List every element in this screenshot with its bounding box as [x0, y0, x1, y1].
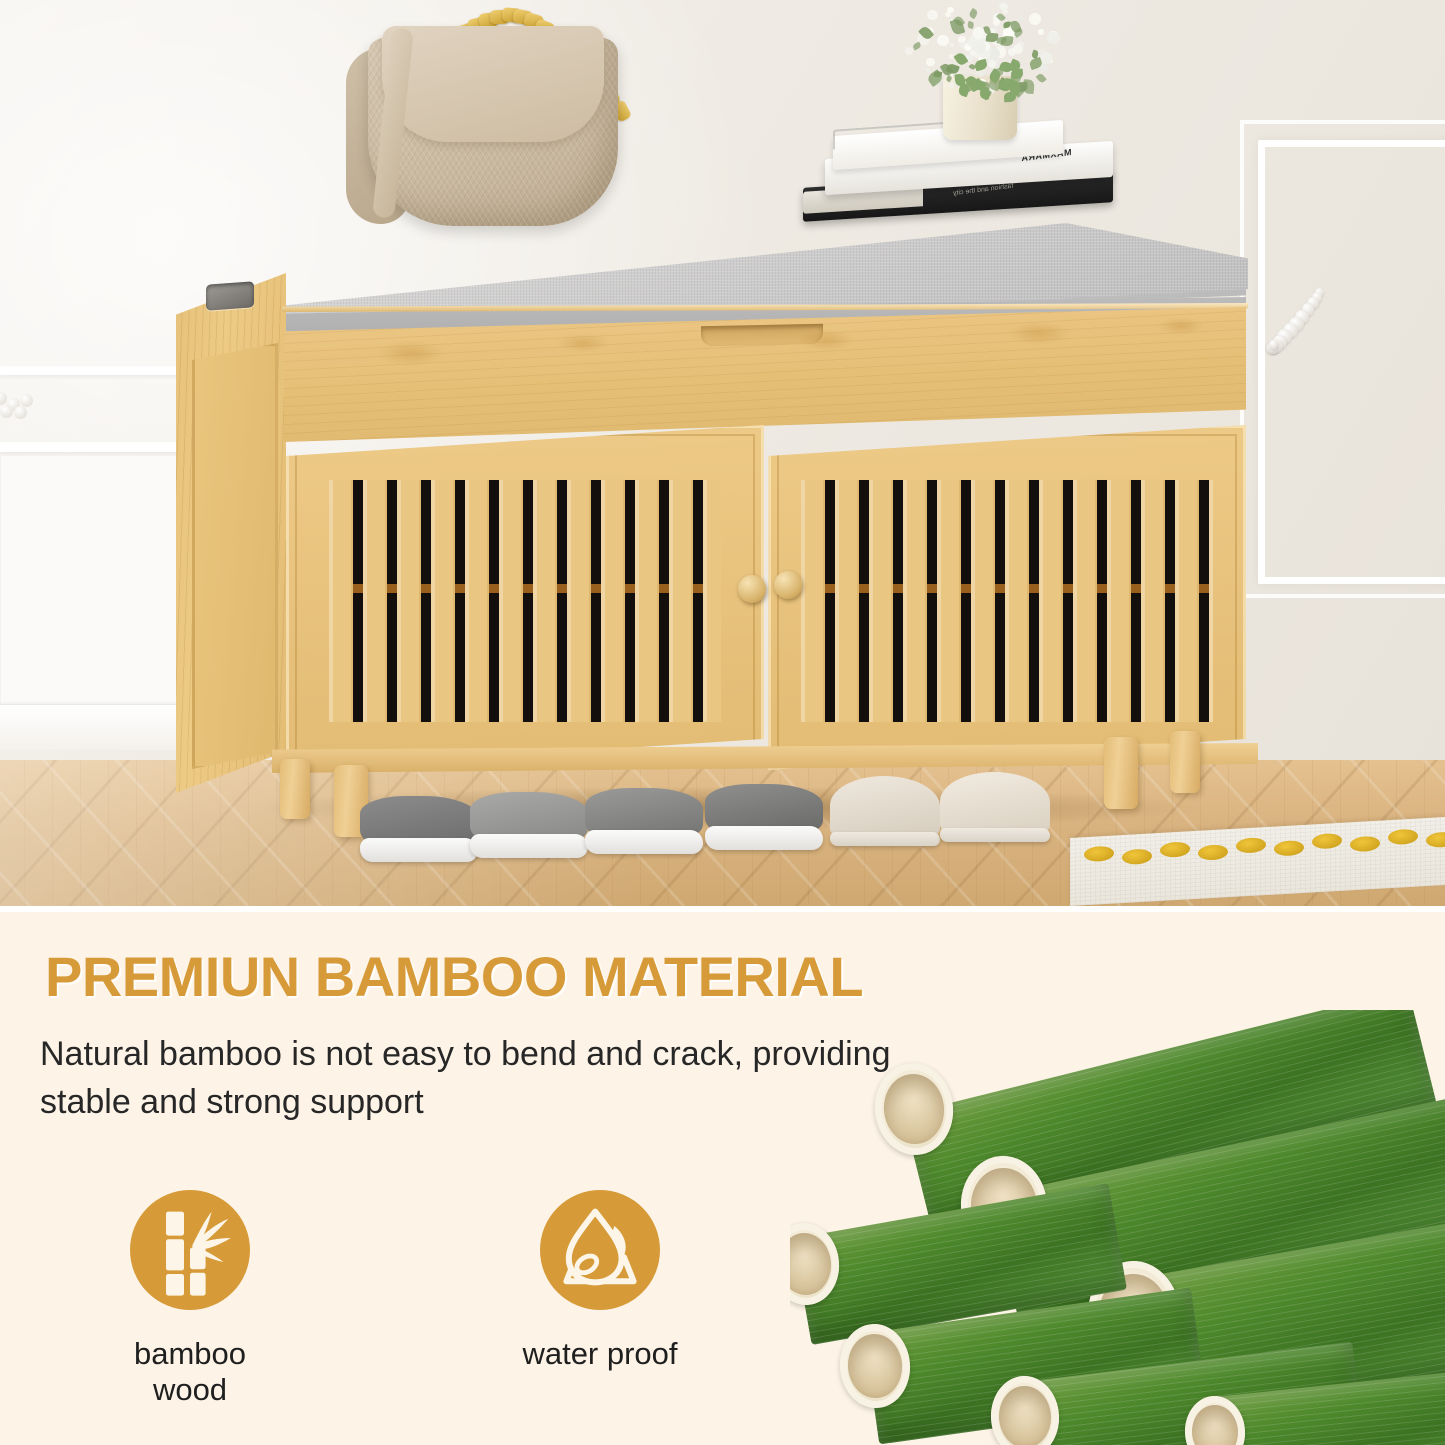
- door-knob-right[interactable]: [774, 571, 802, 599]
- bench-side-inset: [192, 343, 278, 769]
- wall-scroll-ornament: [1262, 268, 1328, 364]
- shoe-item: [360, 774, 478, 862]
- handbag-flap: [382, 26, 604, 142]
- bench-leg: [280, 759, 310, 819]
- flower-bouquet: [883, 0, 1093, 102]
- headline: PREMIUN BAMBOO MATERIAL: [45, 944, 863, 1009]
- product-marketing-image: fashion and the city MAXMARA PREMIUN BAM…: [0, 0, 1445, 1445]
- bamboo-storage-bench: [176, 225, 1248, 810]
- shoe-item: [940, 758, 1050, 842]
- door-slats-left: [329, 480, 721, 722]
- bench-leg: [1104, 737, 1138, 809]
- subcopy: Natural bamboo is not easy to bend and c…: [40, 1030, 900, 1127]
- shoe-item: [830, 762, 940, 846]
- water-drop-icon: [540, 1190, 660, 1310]
- feature-water-proof: water proof: [510, 1190, 690, 1408]
- side-handle-cutout[interactable]: [206, 281, 254, 310]
- door-slats-right: [801, 480, 1212, 722]
- feature-bamboo-wood: bamboo wood: [100, 1190, 280, 1408]
- books-and-plant: fashion and the city MAXMARA: [795, 2, 1125, 242]
- shoe-item: [470, 770, 588, 858]
- feature-label: bamboo wood: [100, 1336, 280, 1408]
- shoe-item: [705, 760, 823, 850]
- bench-leg: [1170, 731, 1200, 793]
- product-photo-panel: fashion and the city MAXMARA: [0, 0, 1445, 906]
- handbag: [330, 2, 640, 234]
- shoe-item: [585, 764, 703, 854]
- cabinet-door-right[interactable]: [768, 425, 1246, 770]
- wall-rosette-ornament: [0, 392, 40, 418]
- cabinet-doors: [286, 425, 1246, 770]
- bamboo-poles-photo: [790, 1010, 1445, 1445]
- shoes-under-bench: [360, 752, 1080, 862]
- door-knob-left[interactable]: [738, 575, 766, 603]
- cabinet-door-left[interactable]: [286, 425, 764, 770]
- bamboo-stalk-icon: [130, 1190, 250, 1310]
- feature-label: water proof: [510, 1336, 690, 1372]
- feature-list: bamboo wood water proof: [100, 1190, 690, 1408]
